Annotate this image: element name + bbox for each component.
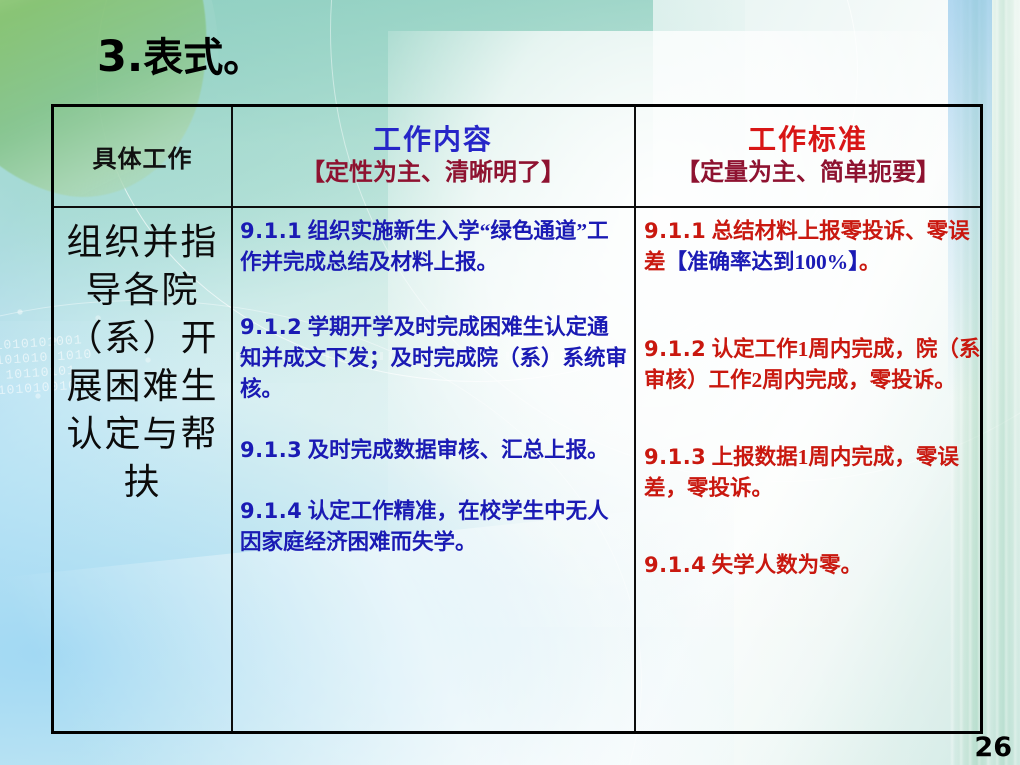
content-spacer-3 — [240, 466, 630, 496]
header-label-standard: 工作标准 — [748, 126, 868, 157]
header-label-content: 工作内容 — [373, 126, 493, 157]
title-number: 3. — [97, 32, 143, 82]
content-item-4: 9.1.4 认定工作精准，在校学生中无人因家庭经济困难而失学。 — [240, 496, 630, 558]
table-header-cell-task: 具体工作 — [54, 107, 231, 206]
standard-item-3: 9.1.3 上报数据1周内完成，零误差，零投诉。 — [644, 442, 986, 504]
table-cell-standard: 9.1.1 总结材料上报零投诉、零误差【准确率达到100%】。 9.1.2 认定… — [636, 208, 988, 731]
standard-item-1: 9.1.1 总结材料上报零投诉、零误差【准确率达到100%】。 — [644, 216, 986, 278]
header-sublabel-standard: 【定量为主、简单扼要】 — [676, 160, 940, 188]
page-title: 3.表式。 — [97, 25, 263, 83]
standard-text-4: 失学人数为零。 — [712, 553, 863, 577]
content-code-1: 9.1.1 — [240, 219, 302, 243]
work-standards-table: 具体工作 工作内容 【定性为主、清晰明了】 工作标准 【定量为主、简单扼要】 组… — [51, 104, 983, 734]
standard-text-1-highlight: 【准确率达到100%】 — [666, 250, 860, 274]
content-item-3: 9.1.3 及时完成数据审核、汇总上报。 — [240, 435, 630, 466]
table-header-cell-standard: 工作标准 【定量为主、简单扼要】 — [636, 107, 980, 206]
content-code-4: 9.1.4 — [240, 499, 302, 523]
standard-code-2: 9.1.2 — [644, 337, 706, 361]
header-label-task: 具体工作 — [93, 139, 193, 174]
header-sublabel-content: 【定性为主、清晰明了】 — [301, 160, 565, 188]
standard-spacer-1 — [644, 278, 986, 334]
title-label: 表式。 — [143, 35, 263, 81]
standard-code-1: 9.1.1 — [644, 219, 706, 243]
content-spacer-1 — [240, 278, 630, 312]
table-cell-task: 组织并指导各院（系）开展困难生认定与帮扶 — [54, 208, 231, 731]
standard-spacer-3 — [644, 504, 986, 550]
table-cell-content: 9.1.1 组织实施新生入学“绿色通道”工作并完成总结及材料上报。 9.1.2 … — [232, 208, 634, 731]
content-spacer-2 — [240, 405, 630, 435]
standard-code-3: 9.1.3 — [644, 445, 706, 469]
content-text-3: 及时完成数据审核、汇总上报。 — [308, 438, 609, 462]
task-text: 组织并指导各院（系）开展困难生认定与帮扶 — [60, 218, 225, 506]
content-code-3: 9.1.3 — [240, 438, 302, 462]
content-code-2: 9.1.2 — [240, 315, 302, 339]
page-number: 26 — [974, 732, 1012, 763]
standard-text-1b: 。 — [859, 250, 881, 274]
table-header-cell-content: 工作内容 【定性为主、清晰明了】 — [232, 107, 634, 206]
content-item-2: 9.1.2 学期开学及时完成困难生认定通知并成文下发；及时完成院（系）系统审核。 — [240, 312, 630, 405]
slide-canvas: 1010101001 101010 1010 10110101 10101001… — [0, 0, 1020, 765]
standard-spacer-2 — [644, 396, 986, 442]
standard-item-4: 9.1.4 失学人数为零。 — [644, 550, 986, 581]
content-item-1: 9.1.1 组织实施新生入学“绿色通道”工作并完成总结及材料上报。 — [240, 216, 630, 278]
standard-item-2: 9.1.2 认定工作1周内完成，院（系审核）工作2周内完成，零投诉。 — [644, 334, 986, 396]
standard-code-4: 9.1.4 — [644, 553, 706, 577]
